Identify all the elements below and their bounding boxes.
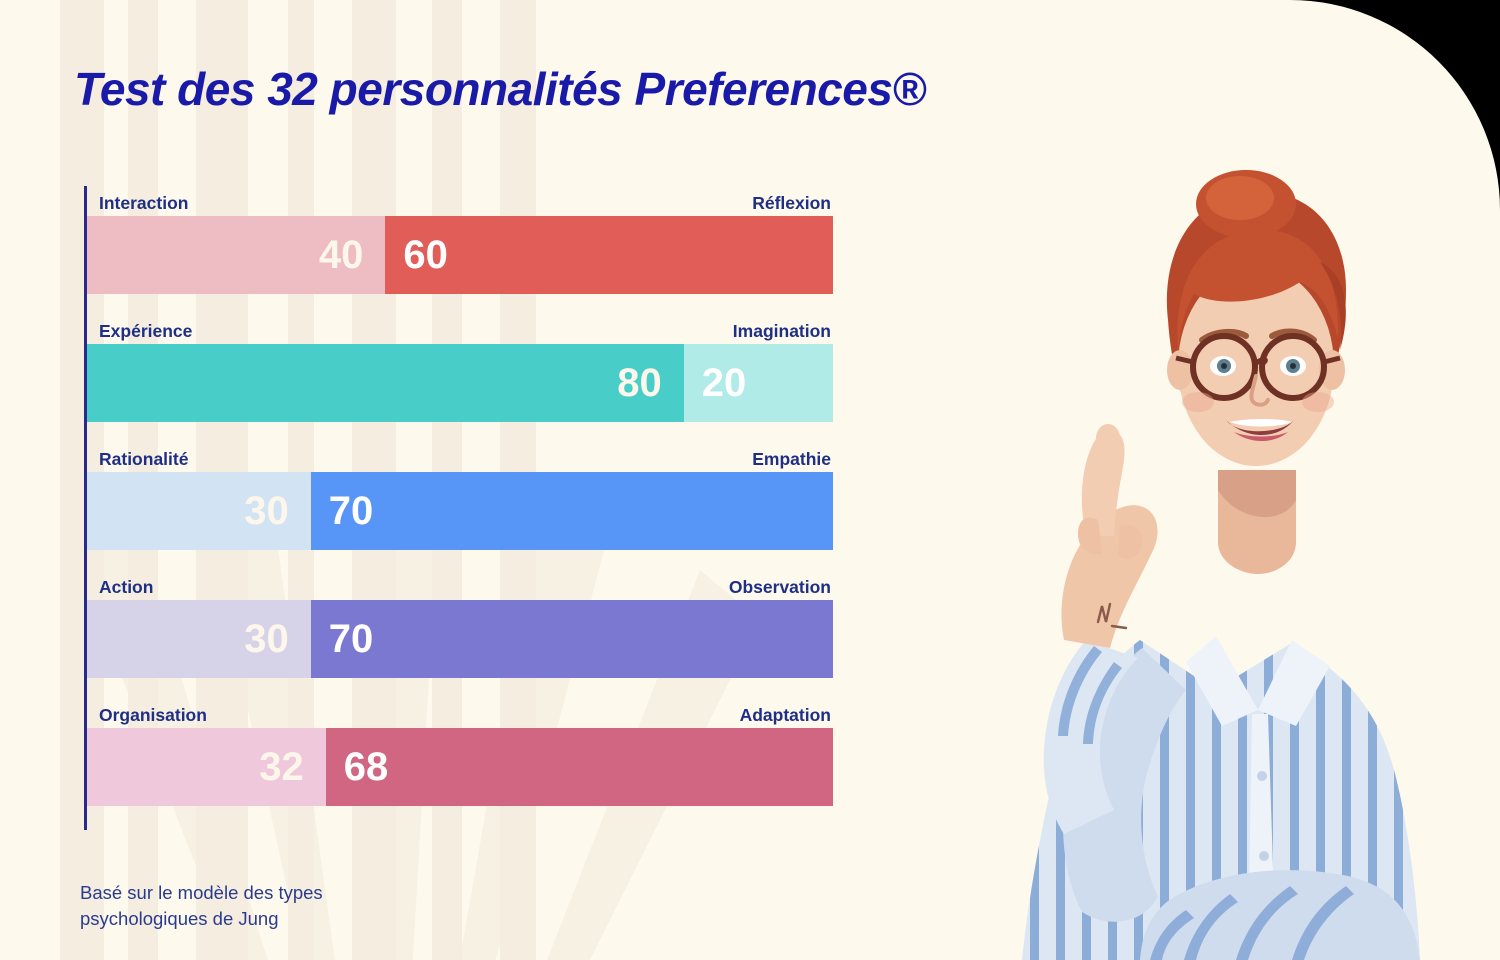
bar-value-left: 30: [244, 619, 289, 659]
bar-segment-left: 30: [87, 472, 311, 550]
row-left-label: Expérience: [99, 321, 192, 342]
row-left-label: Action: [99, 577, 153, 598]
chart-row: Expérience Imagination 80 20: [87, 314, 833, 422]
bar-value-right: 60: [403, 235, 448, 275]
bar-value-left: 80: [617, 363, 662, 403]
poster-canvas: Test des 32 personnalités Preferences® I…: [0, 0, 1500, 960]
bar-segment-left: 40: [87, 216, 385, 294]
row-label-group: Rationalité Empathie: [87, 442, 833, 472]
row-right-label: Réflexion: [752, 193, 831, 214]
row-label-group: Expérience Imagination: [87, 314, 833, 344]
row-left-label: Rationalité: [99, 449, 188, 470]
page-title: Test des 32 personnalités Preferences®: [74, 62, 926, 116]
bar-segment-right: 60: [385, 216, 833, 294]
row-label-group: Organisation Adaptation: [87, 698, 833, 728]
row-right-label: Imagination: [733, 321, 831, 342]
chart-row: Action Observation 30 70: [87, 570, 833, 678]
stacked-bar[interactable]: 40 60: [87, 216, 833, 294]
stacked-bar[interactable]: 30 70: [87, 600, 833, 678]
bar-segment-right: 20: [684, 344, 833, 422]
bar-segment-left: 30: [87, 600, 311, 678]
bar-value-left: 30: [244, 491, 289, 531]
row-right-label: Observation: [729, 577, 831, 598]
bar-value-right: 70: [329, 619, 374, 659]
row-left-label: Organisation: [99, 705, 207, 726]
footnote-line-2: psychologiques de Jung: [80, 906, 323, 932]
footnote: Basé sur le modèle des types psychologiq…: [80, 880, 323, 931]
stacked-bar[interactable]: 80 20: [87, 344, 833, 422]
bar-segment-left: 80: [87, 344, 684, 422]
row-label-group: Interaction Réflexion: [87, 186, 833, 216]
bar-segment-left: 32: [87, 728, 326, 806]
bar-value-left: 40: [319, 235, 364, 275]
person-illustration: [990, 170, 1460, 960]
bar-value-right: 70: [329, 491, 374, 531]
chart-row: Organisation Adaptation 32 68: [87, 698, 833, 806]
stacked-bar[interactable]: 30 70: [87, 472, 833, 550]
preferences-bar-chart: Interaction Réflexion 40 60 Expérience I…: [84, 186, 833, 830]
chart-row: Rationalité Empathie 30 70: [87, 442, 833, 550]
row-left-label: Interaction: [99, 193, 188, 214]
bar-value-left: 32: [259, 747, 304, 787]
bar-segment-right: 68: [326, 728, 833, 806]
row-label-group: Action Observation: [87, 570, 833, 600]
bar-value-right: 20: [702, 363, 747, 403]
row-right-label: Adaptation: [740, 705, 831, 726]
bar-value-right: 68: [344, 747, 389, 787]
bar-segment-right: 70: [311, 472, 833, 550]
row-right-label: Empathie: [752, 449, 831, 470]
footnote-line-1: Basé sur le modèle des types: [80, 880, 323, 906]
bar-segment-right: 70: [311, 600, 833, 678]
stacked-bar[interactable]: 32 68: [87, 728, 833, 806]
chart-row: Interaction Réflexion 40 60: [87, 186, 833, 294]
